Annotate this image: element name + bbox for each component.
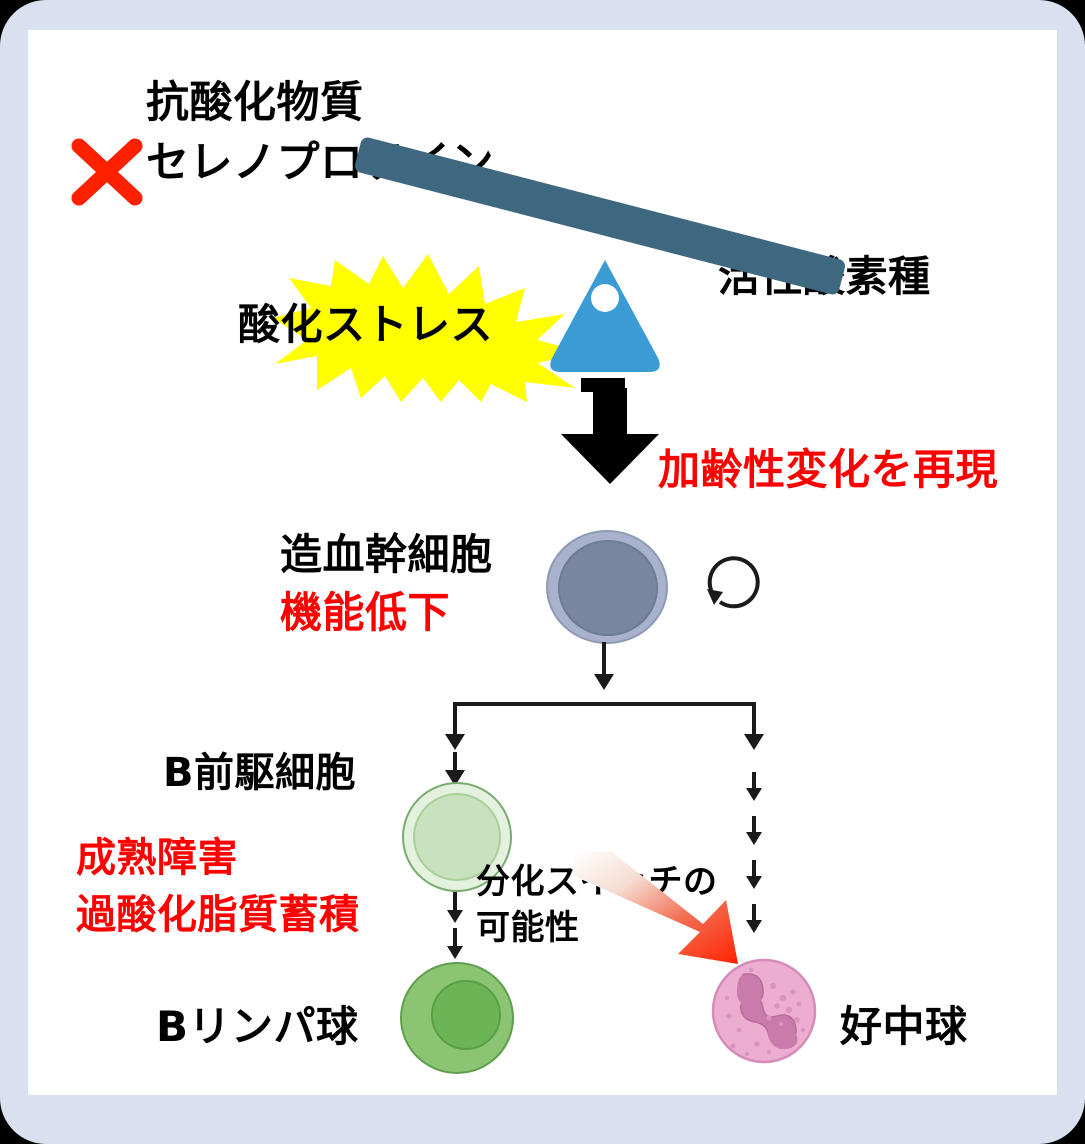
branch-horizontal-line	[453, 702, 756, 706]
stem-cell-nucleus	[558, 540, 658, 636]
myeloid-arrowhead-2	[746, 832, 762, 845]
branch-right-arrowhead	[744, 734, 764, 750]
figure-canvas: 抗酸化物質 セレノプロテイン 酸化ストレス 活性酸素種 加齢性変化を再現 造血幹…	[28, 30, 1057, 1095]
differentiation-switch-arrow-icon	[568, 852, 758, 970]
self-renewal-circular-arrow-icon	[700, 548, 766, 614]
branch-left-arrowhead	[445, 734, 465, 750]
b-precursor-label: B前駆細胞	[163, 750, 356, 797]
switch-note-line2: 可能性	[476, 908, 580, 948]
b-lymphocyte-label: Bリンパ球	[156, 1002, 359, 1052]
maturation-defect-label: 成熟障害	[76, 835, 238, 882]
b-lymphocyte-nucleus	[431, 980, 501, 1050]
myeloid-arrowhead-1	[746, 788, 762, 801]
balance-base	[581, 378, 625, 392]
antioxidant-label: 抗酸化物質	[146, 78, 364, 129]
oxidative-stress-label: 酸化ストレス	[238, 300, 493, 350]
bprec-to-blymph-arrowhead-2	[447, 946, 463, 959]
stemcell-to-branch-line	[602, 642, 606, 676]
figure-frame: 抗酸化物質 セレノプロテイン 酸化ストレス 活性酸素種 加齢性変化を再現 造血幹…	[0, 0, 1085, 1144]
b-lymphocyte-cell	[400, 962, 514, 1074]
neutrophil-cell	[711, 958, 817, 1064]
stem-cell-label: 造血幹細胞	[280, 530, 493, 580]
neutrophil-label: 好中球	[840, 1002, 968, 1052]
lipid-peroxide-label: 過酸化脂質蓄積	[76, 892, 360, 939]
cross-x-icon	[70, 138, 144, 206]
aging-phenotype-label: 加齢性変化を再現	[658, 445, 998, 495]
balance-fulcrum-icon	[546, 256, 664, 376]
branch-right-stem	[752, 702, 756, 736]
stemcell-to-branch-arrowhead	[594, 674, 614, 690]
bprec-to-blymph-arrowhead-1	[447, 910, 463, 923]
branch-left-stem	[453, 702, 457, 736]
stem-cell-dysfunction-label: 機能低下	[280, 588, 450, 638]
hematopoietic-stem-cell	[546, 530, 668, 644]
down-arrow-icon	[555, 388, 665, 486]
